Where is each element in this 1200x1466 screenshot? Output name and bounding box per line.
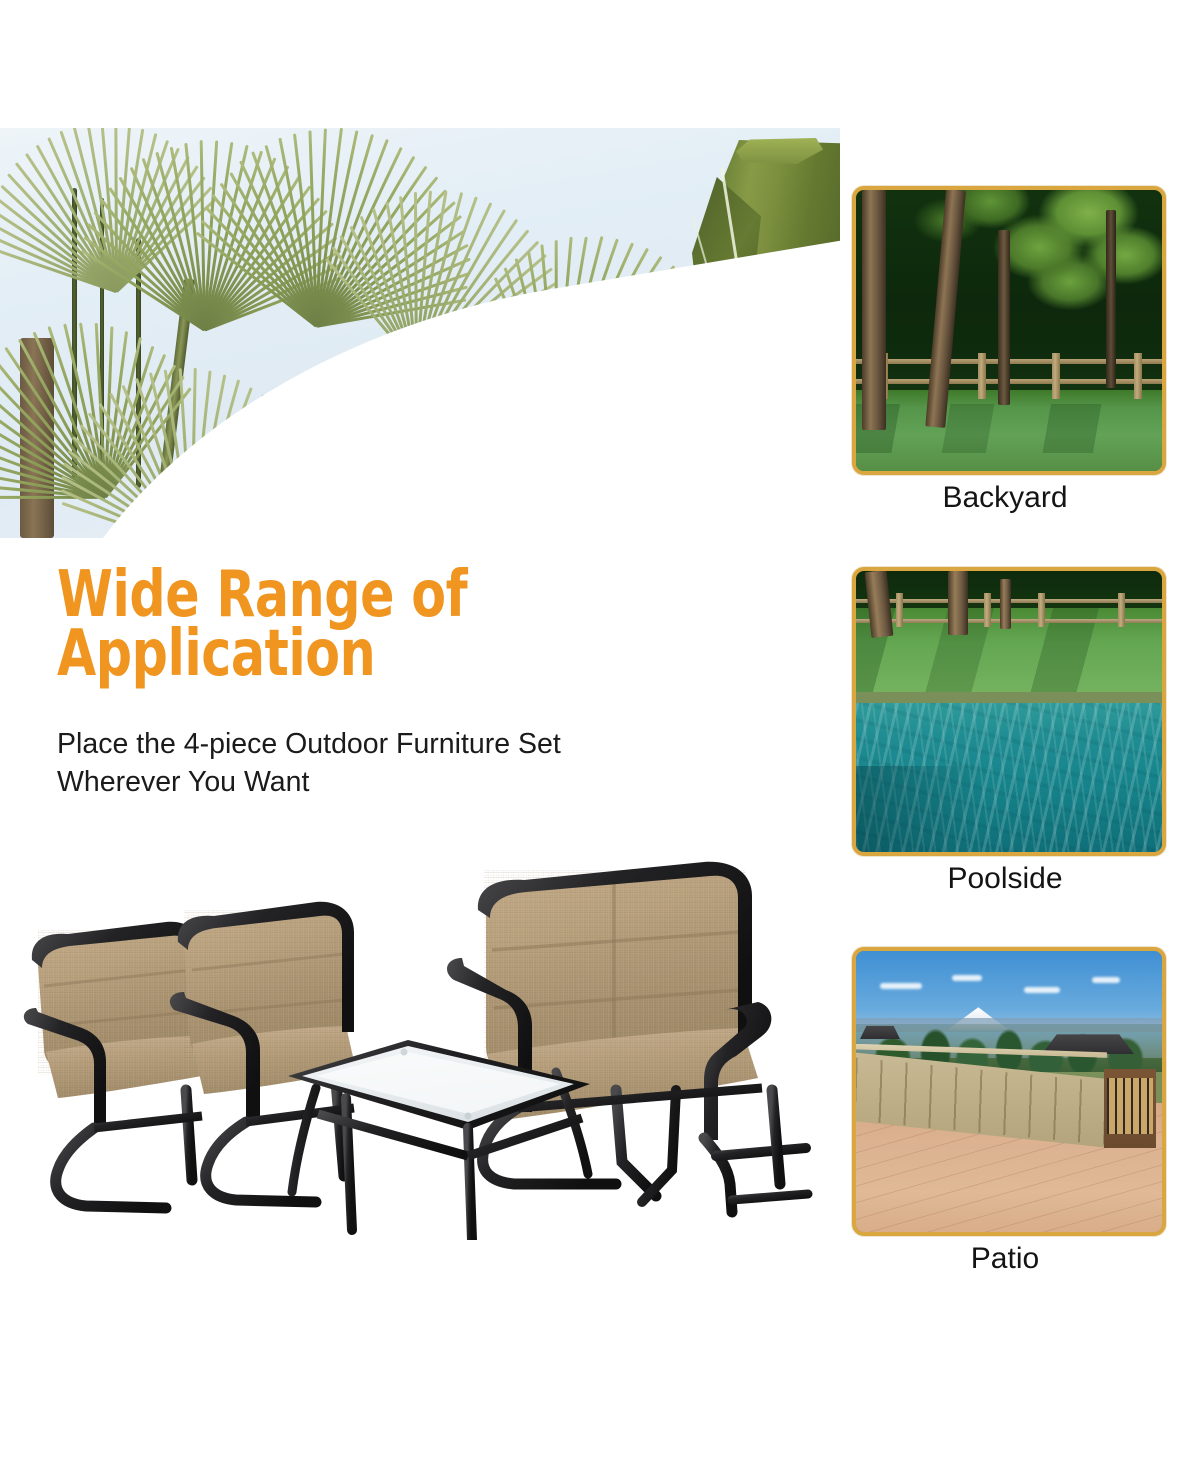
scene-card-poolside[interactable] [852,567,1166,856]
tree-trunk-right [1106,210,1116,388]
scene-card-patio[interactable] [852,947,1166,1236]
scene-label-poolside: Poolside [852,862,1158,896]
tree-trunk-mid [998,230,1010,405]
page-subtitle: Place the 4-piece Outdoor Furniture Set … [57,726,737,802]
furniture-illustration [16,840,836,1240]
patio-glider-loveseat [447,862,808,1212]
subtitle-line-1: Place the 4-piece Outdoor Furniture Set [57,728,561,760]
poolside-tree-mid [1000,579,1011,629]
patio-chair-front [170,902,356,1202]
water-shadow [856,766,1003,852]
backyard-photo [856,190,1162,471]
poolside-tree-center [948,571,968,635]
poolside-photo [856,571,1162,852]
patio-chair-rear [24,922,202,1208]
scene-card-backyard[interactable] [852,186,1166,475]
scene-label-patio: Patio [852,1242,1158,1276]
hero-tropical-photo [0,128,840,538]
tree-trunk-left [862,190,886,430]
metal-railing [1104,1069,1156,1148]
subtitle-line-2: Wherever You Want [57,766,309,798]
product-furniture-set [16,840,836,1240]
marketing-banner: Wide Range of Application Place the 4-pi… [0,0,1200,1466]
patio-photo [856,951,1162,1232]
headline-line-2: Application [57,625,603,684]
scene-label-backyard: Backyard [852,481,1158,515]
page-title: Wide Range of Application [57,566,603,684]
pool-water [856,703,1162,852]
